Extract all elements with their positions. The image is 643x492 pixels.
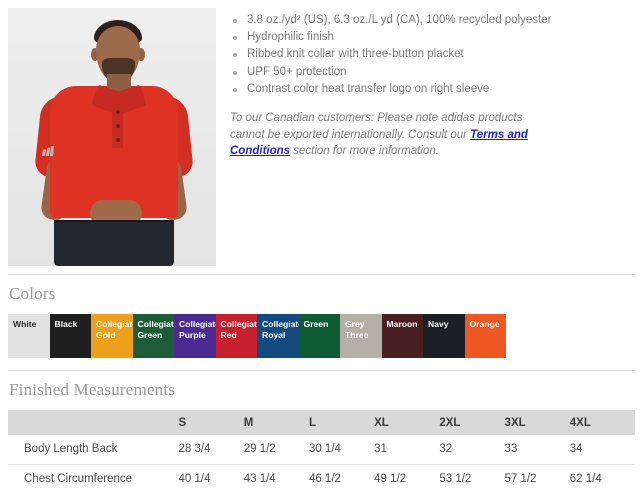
row-value: 53 1/2 [439, 464, 504, 492]
color-swatch[interactable]: Collegiate Green [133, 314, 175, 358]
color-swatch-list: White Black Collegiate Gold Collegiate G… [8, 314, 635, 358]
row-value: 28 3/4 [179, 435, 244, 464]
row-value: 40 1/4 [179, 464, 244, 492]
product-detail-page: 3.8 oz./yd² (US), 6.3 oz./L yd (CA), 100… [0, 0, 643, 492]
swatch-label: Collegiate Red [221, 319, 258, 340]
row-value: 34 [570, 435, 635, 464]
swatch-label: Collegiate Gold [96, 319, 133, 340]
row-value: 30 1/4 [309, 435, 374, 464]
swatch-label: Black [55, 319, 78, 329]
swatch-label: White [13, 319, 36, 329]
column-header: 2XL [439, 410, 504, 435]
column-header: XL [374, 410, 439, 435]
adidas-logo-icon [42, 146, 54, 156]
polo-button-top [116, 110, 120, 114]
color-swatch[interactable]: White [8, 314, 50, 358]
swatch-label: Collegiate Royal [262, 319, 299, 340]
colors-heading: Colors [9, 284, 643, 304]
list-item: 3.8 oz./yd² (US), 6.3 oz./L yd (CA), 100… [230, 12, 631, 29]
color-swatch[interactable]: Collegiate Royal [257, 314, 299, 358]
divider-colors [8, 274, 635, 275]
row-value: 57 1/2 [505, 464, 570, 492]
swatch-label: Maroon [387, 319, 418, 329]
row-value: 32 [439, 435, 504, 464]
column-header [8, 410, 179, 435]
swatch-label: Collegiate Green [138, 319, 175, 340]
column-header: 3XL [505, 410, 570, 435]
swatch-label: Navy [428, 319, 449, 329]
column-header: L [309, 410, 374, 435]
table-header-row: S M L XL 2XL 3XL 4XL [8, 410, 635, 435]
row-value: 49 1/2 [374, 464, 439, 492]
color-swatch[interactable]: Green [299, 314, 341, 358]
product-image[interactable] [8, 8, 216, 266]
swatch-label: Orange [470, 319, 500, 329]
color-swatch[interactable]: Collegiate Red [216, 314, 258, 358]
product-details: 3.8 oz./yd² (US), 6.3 oz./L yd (CA), 100… [216, 8, 635, 266]
canadian-customers-note: To our Canadian customers: Please note a… [230, 110, 560, 160]
table-row: Chest Circumference 40 1/4 43 1/4 46 1/2… [8, 464, 635, 492]
column-header: M [244, 410, 309, 435]
swatch-label: Grey Three [345, 319, 368, 340]
polo-button-middle [116, 124, 120, 128]
row-value: 62 1/4 [570, 464, 635, 492]
color-swatch[interactable]: Orange [465, 314, 507, 358]
model-pants [54, 222, 174, 266]
row-label: Chest Circumference [8, 464, 179, 492]
row-value: 43 1/4 [244, 464, 309, 492]
row-value: 33 [505, 435, 570, 464]
row-value: 46 1/2 [309, 464, 374, 492]
polo-button-bottom [116, 138, 120, 142]
list-item: Hydrophilic finish [230, 29, 631, 46]
feature-list: 3.8 oz./yd² (US), 6.3 oz./L yd (CA), 100… [230, 12, 631, 98]
swatch-label: Green [304, 319, 329, 329]
swatch-label: Collegiate Purple [179, 319, 216, 340]
color-swatch[interactable]: Collegiate Purple [174, 314, 216, 358]
product-overview: 3.8 oz./yd² (US), 6.3 oz./L yd (CA), 100… [0, 0, 643, 266]
column-header: S [179, 410, 244, 435]
measurements-heading: Finished Measurements [9, 380, 643, 400]
row-value: 29 1/2 [244, 435, 309, 464]
color-swatch[interactable]: Maroon [382, 314, 424, 358]
row-label: Body Length Back [8, 435, 179, 464]
column-header: 4XL [570, 410, 635, 435]
list-item: UPF 50+ protection [230, 64, 631, 81]
divider-measurements [8, 370, 635, 371]
color-swatch[interactable]: Grey Three [340, 314, 382, 358]
color-swatch[interactable]: Navy [423, 314, 465, 358]
color-swatch[interactable]: Collegiate Gold [91, 314, 133, 358]
table-row: Body Length Back 28 3/4 29 1/2 30 1/4 31… [8, 435, 635, 464]
note-text-after: section for more information. [290, 145, 439, 157]
list-item: Ribbed knit collar with three-button pla… [230, 46, 631, 63]
row-value: 31 [374, 435, 439, 464]
measurements-table: S M L XL 2XL 3XL 4XL Body Length Back 28… [8, 410, 635, 492]
color-swatch[interactable]: Black [50, 314, 92, 358]
list-item: Contrast color heat transfer logo on rig… [230, 81, 631, 98]
